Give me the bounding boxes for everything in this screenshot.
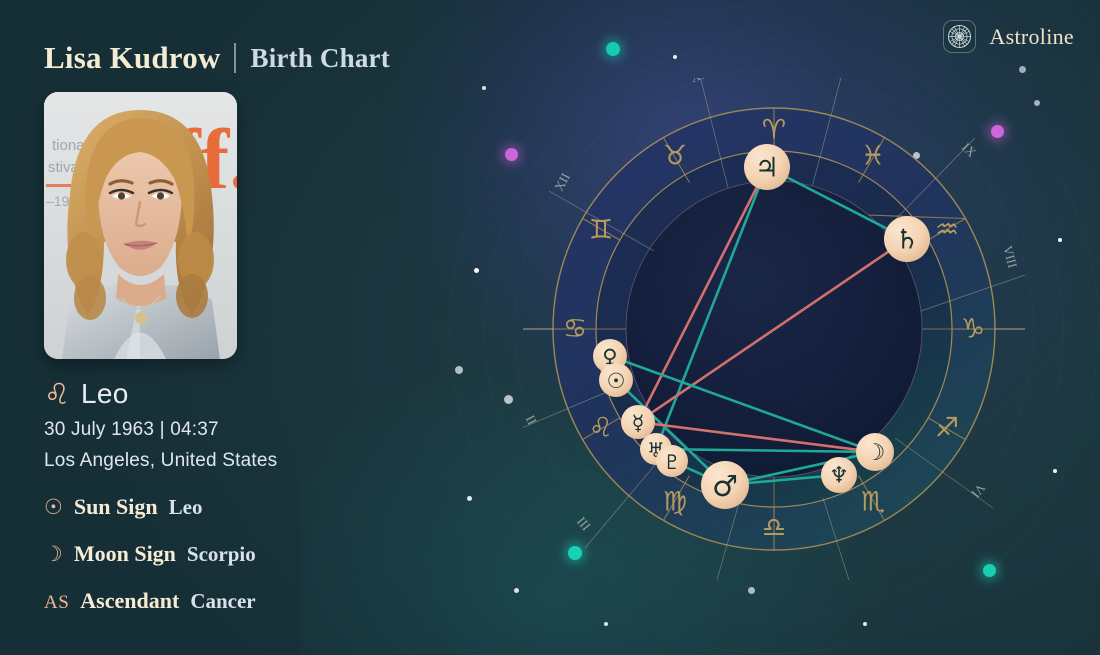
svg-text:♆: ♆ bbox=[829, 464, 849, 489]
sun-icon: ☉ bbox=[44, 497, 63, 518]
zodiac-glyph-aquarius: ♒ bbox=[935, 215, 959, 246]
leo-glyph-icon: ♌ bbox=[44, 380, 70, 409]
sun-sign-name: Leo bbox=[81, 378, 129, 410]
svg-text:–19: –19 bbox=[46, 193, 70, 209]
svg-text:☽: ☽ bbox=[865, 440, 886, 466]
page-title: Lisa Kudrow Birth Chart bbox=[44, 40, 390, 76]
zodiac-glyph-pisces: ♓ bbox=[861, 141, 885, 172]
svg-text:☿: ☿ bbox=[632, 411, 645, 435]
ascendant-value: Cancer bbox=[190, 589, 255, 614]
svg-text:♄: ♄ bbox=[895, 225, 919, 256]
sun-sign-headline: ♌ Leo bbox=[44, 378, 129, 410]
page-subtitle: Birth Chart bbox=[250, 43, 389, 74]
birth-chart-wheel[interactable]: ♈ ♉ ♊ ♋ ♌ ♍ ♎ ♏ ♐ ♑ ♒ ♓ X XI XII Asc II … bbox=[523, 78, 1025, 580]
planet-marker-mercury[interactable]: ☿ bbox=[621, 405, 655, 439]
screenshot-stage: Lisa Kudrow Birth Chart bbox=[0, 0, 1100, 655]
planet-marker-pluto[interactable]: ♇ bbox=[656, 445, 688, 477]
svg-text:☉: ☉ bbox=[607, 369, 626, 393]
house-numeral-viii: VIII bbox=[1000, 244, 1020, 270]
person-name: Lisa Kudrow bbox=[44, 40, 220, 76]
zodiac-glyph-virgo: ♍ bbox=[663, 487, 687, 518]
zodiac-glyph-cancer: ♋ bbox=[563, 314, 587, 345]
planet-marker-mars[interactable]: ♂ bbox=[701, 461, 749, 509]
zodiac-glyph-scorpio: ♏ bbox=[861, 487, 885, 518]
ascendant-icon: AS bbox=[44, 593, 69, 612]
planet-marker-sun[interactable]: ☉ bbox=[599, 363, 633, 397]
ascendant-label: Ascendant bbox=[80, 588, 179, 614]
zodiac-glyph-gemini: ♊ bbox=[589, 215, 613, 246]
zodiac-glyph-leo: ♌ bbox=[589, 413, 613, 444]
house-numeral-xii: XII bbox=[551, 170, 573, 193]
zodiac-glyph-aries: ♈ bbox=[762, 115, 786, 146]
house-numeral-ii: II bbox=[523, 413, 540, 428]
house-numeral-vi: VI bbox=[968, 481, 988, 501]
profile-photo: tiona stival –19 ff. bbox=[44, 92, 237, 359]
sun-sign-value: Leo bbox=[169, 495, 203, 520]
brand-name: Astroline bbox=[989, 24, 1074, 50]
svg-text:♃: ♃ bbox=[755, 153, 779, 184]
planet-marker-jupiter[interactable]: ♃ bbox=[744, 144, 790, 190]
attribute-row-ascendant: AS Ascendant Cancer bbox=[44, 588, 256, 614]
zodiac-glyph-sagittarius: ♐ bbox=[935, 413, 959, 444]
birth-place: Los Angeles, United States bbox=[44, 450, 277, 472]
zodiac-glyph-libra: ♎ bbox=[762, 513, 786, 544]
house-label-dsc: Dsc bbox=[1023, 316, 1025, 336]
zodiac-glyph-taurus: ♉ bbox=[663, 141, 687, 172]
moon-sign-label: Moon Sign bbox=[74, 541, 176, 567]
sun-sign-label: Sun Sign bbox=[74, 494, 158, 520]
title-divider bbox=[234, 43, 236, 73]
moon-icon: ☽ bbox=[44, 544, 63, 565]
birth-date-time: 30 July 1963 | 04:37 bbox=[44, 419, 219, 441]
planet-marker-saturn[interactable]: ♄ bbox=[884, 216, 930, 262]
house-numeral-iii: III bbox=[574, 514, 594, 534]
house-numeral-xi: XI bbox=[688, 78, 706, 85]
svg-text:♂: ♂ bbox=[712, 469, 738, 503]
house-numeral-ix: IX bbox=[959, 140, 980, 161]
brand-logo[interactable]: Astroline bbox=[943, 20, 1074, 53]
planet-marker-moon[interactable]: ☽ bbox=[856, 433, 894, 471]
zodiac-glyph-capricorn: ♑ bbox=[961, 314, 985, 345]
attribute-row-moon-sign: ☽ Moon Sign Scorpio bbox=[44, 541, 256, 567]
profile-panel: Lisa Kudrow Birth Chart bbox=[0, 0, 440, 655]
moon-sign-value: Scorpio bbox=[187, 542, 256, 567]
svg-text:♇: ♇ bbox=[663, 450, 681, 474]
attribute-row-sun-sign: ☉ Sun Sign Leo bbox=[44, 494, 202, 520]
astrolabe-wheel-icon bbox=[943, 20, 976, 53]
planet-marker-neptune[interactable]: ♆ bbox=[821, 457, 857, 493]
